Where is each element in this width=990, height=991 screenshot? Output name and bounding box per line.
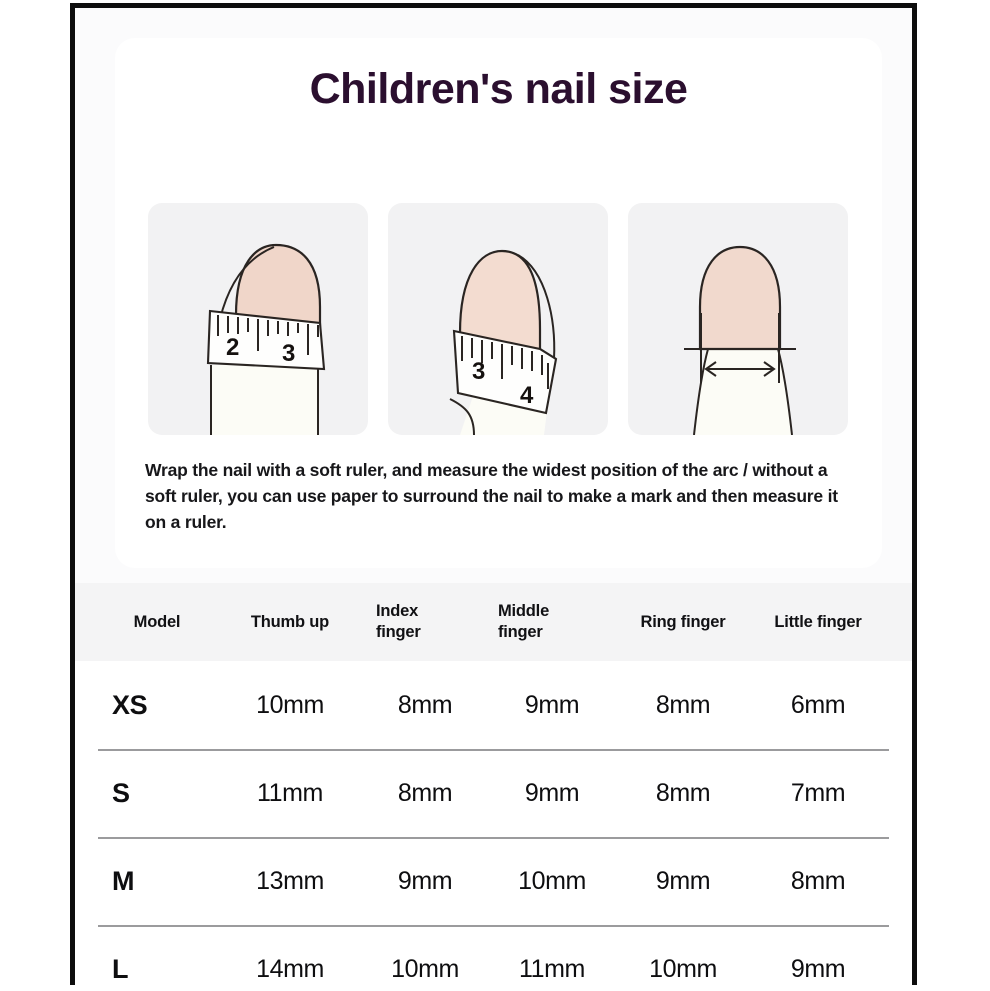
cell-thumb: 10mm: [216, 691, 364, 720]
column-header-index-finger: Index finger: [364, 601, 486, 642]
cell-ring: 8mm: [618, 779, 748, 808]
column-header-middle-finger: Middle finger: [486, 601, 618, 642]
cell-model: L: [98, 954, 216, 985]
column-header-ring-finger: Ring finger: [618, 612, 748, 633]
cell-thumb: 14mm: [216, 955, 364, 984]
cell-middle: 10mm: [486, 867, 618, 896]
table-row: M 13mm 9mm 10mm 9mm 8mm: [75, 837, 912, 925]
cell-thumb: 13mm: [216, 867, 364, 896]
finger-ruler-2-3-icon: 2 3: [148, 203, 368, 435]
cell-little: 9mm: [748, 955, 888, 984]
page-title: Children's nail size: [115, 65, 882, 114]
cell-index: 10mm: [364, 955, 486, 984]
info-card: Children's nail size: [115, 38, 882, 568]
table-header-row: Model Thumb up Index finger Middle finge…: [75, 583, 912, 661]
cell-model: XS: [98, 690, 216, 721]
column-header-model: Model: [98, 612, 216, 633]
column-header-little-finger: Little finger: [748, 612, 888, 633]
illustration-tile-nail-width-arrow: [628, 203, 848, 435]
table-row: S 11mm 8mm 9mm 8mm 7mm: [75, 749, 912, 837]
cell-middle: 11mm: [486, 955, 618, 984]
table-row: XS 10mm 8mm 9mm 8mm 6mm: [75, 661, 912, 749]
cell-index: 9mm: [364, 867, 486, 896]
cell-little: 7mm: [748, 779, 888, 808]
cell-little: 8mm: [748, 867, 888, 896]
illustration-tile-soft-ruler-3-4: 3 4: [388, 203, 608, 435]
finger-ruler-3-4-icon: 3 4: [388, 203, 608, 435]
illustration-tile-soft-ruler-2-3: 2 3: [148, 203, 368, 435]
cell-middle: 9mm: [486, 691, 618, 720]
cell-index: 8mm: [364, 779, 486, 808]
cell-little: 6mm: [748, 691, 888, 720]
column-header-thumb-up: Thumb up: [216, 612, 364, 633]
cell-middle: 9mm: [486, 779, 618, 808]
table-row: L 14mm 10mm 11mm 10mm 9mm: [75, 925, 912, 991]
svg-text:4: 4: [520, 382, 534, 409]
cell-ring: 10mm: [618, 955, 748, 984]
svg-text:2: 2: [226, 334, 239, 361]
photo-frame: Children's nail size: [70, 3, 917, 985]
measurement-instructions: Wrap the nail with a soft ruler, and mea…: [145, 458, 857, 536]
size-table: Model Thumb up Index finger Middle finge…: [75, 583, 912, 991]
illustration-row: 2 3: [148, 203, 848, 435]
cell-model: M: [98, 866, 216, 897]
cell-index: 8mm: [364, 691, 486, 720]
svg-text:3: 3: [282, 340, 295, 367]
nail-size-chart-image: Children's nail size: [0, 0, 990, 991]
nail-width-arrow-icon: [628, 203, 848, 435]
cell-thumb: 11mm: [216, 779, 364, 808]
cell-model: S: [98, 778, 216, 809]
cell-ring: 8mm: [618, 691, 748, 720]
cell-ring: 9mm: [618, 867, 748, 896]
svg-text:3: 3: [472, 358, 485, 385]
